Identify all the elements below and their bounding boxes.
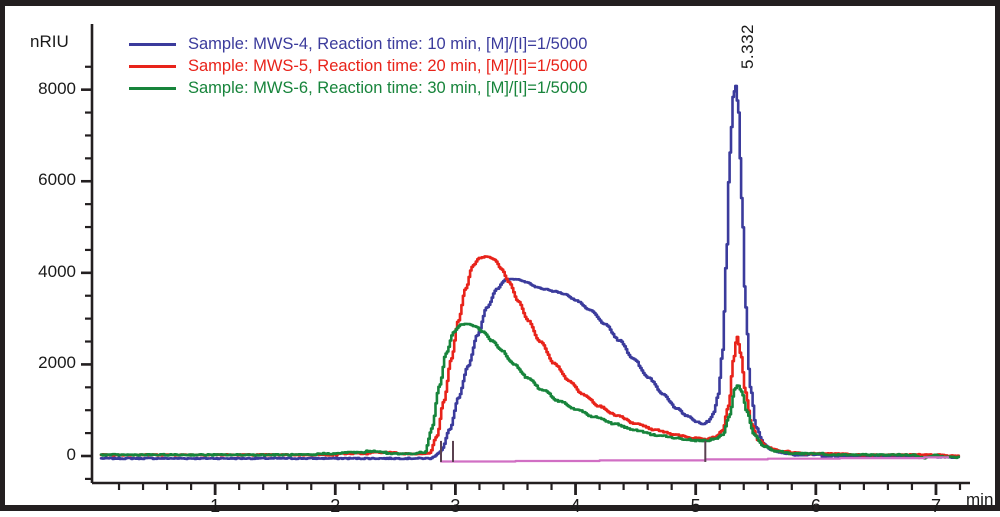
legend-item: Sample: MWS-6, Reaction time: 30 min, [M… — [129, 78, 587, 98]
x-axis-unit-label: min — [966, 490, 993, 510]
x-tick-label: 2 — [320, 496, 350, 517]
x-tick-label: 4 — [561, 496, 591, 517]
y-tick-label: 2000 — [16, 353, 76, 373]
series-trace-3 — [101, 324, 959, 458]
y-axis-unit-label: nRIU — [30, 32, 69, 52]
legend-label: Sample: MWS-4, Reaction time: 10 min, [M… — [188, 35, 587, 53]
figure-frame: nRIU min 02000400060008000 1234567 Sampl… — [0, 0, 1000, 511]
legend-color-swatch — [129, 65, 176, 68]
legend-item: Sample: MWS-4, Reaction time: 10 min, [M… — [129, 34, 587, 54]
x-tick-label: 5 — [681, 496, 711, 517]
legend-label: Sample: MWS-6, Reaction time: 30 min, [M… — [188, 79, 587, 97]
series-trace-1 — [101, 86, 959, 459]
retention-time-label: 5.332 — [738, 24, 758, 69]
y-tick-label: 0 — [16, 445, 76, 465]
legend-label: Sample: MWS-5, Reaction time: 20 min, [M… — [188, 57, 587, 75]
baseline-trace — [441, 457, 948, 461]
x-tick-label: 6 — [801, 496, 831, 517]
legend-item: Sample: MWS-5, Reaction time: 20 min, [M… — [129, 56, 587, 76]
x-tick-label: 3 — [440, 496, 470, 517]
y-tick-label: 6000 — [16, 170, 76, 190]
series-group — [101, 86, 959, 462]
legend-color-swatch — [129, 43, 176, 46]
series-trace-2 — [101, 256, 959, 456]
legend-color-swatch — [129, 87, 176, 90]
x-tick-label: 7 — [921, 496, 951, 517]
chart-legend: Sample: MWS-4, Reaction time: 10 min, [M… — [129, 34, 587, 100]
y-tick-label: 4000 — [16, 262, 76, 282]
x-tick-label: 1 — [200, 496, 230, 517]
y-tick-label: 8000 — [16, 79, 76, 99]
